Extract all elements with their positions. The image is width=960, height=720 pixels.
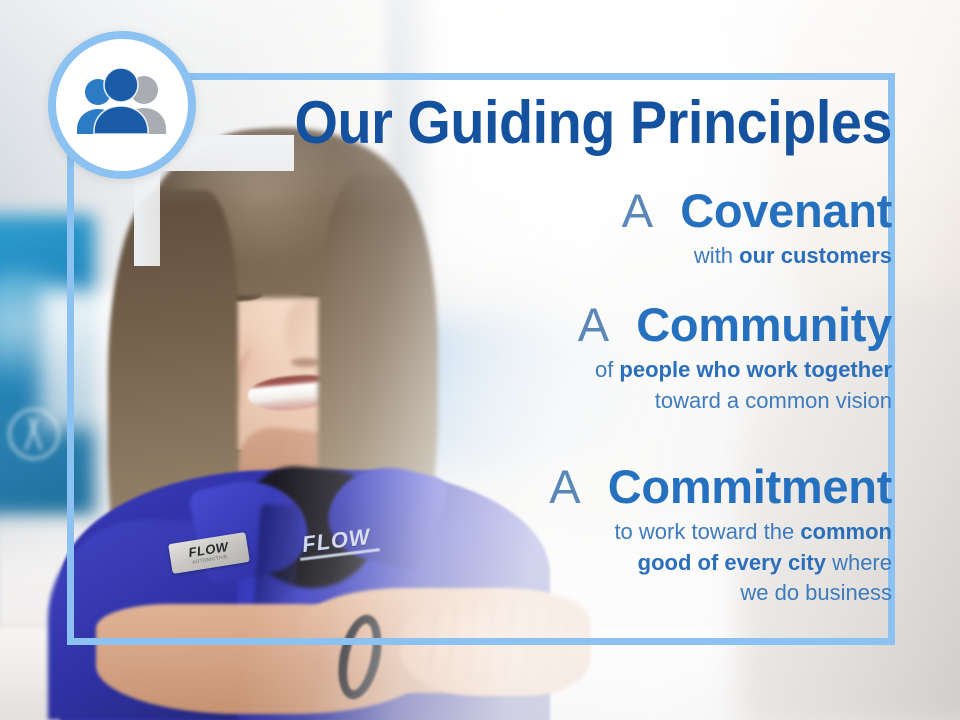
guiding-principles-graphic: FLOW AUTOMOTIVE FLOW bbox=[0, 0, 960, 720]
principle-subtext-line: good of every city where bbox=[549, 548, 892, 578]
plain-text: with bbox=[694, 243, 739, 268]
plain-text: we do business bbox=[740, 580, 892, 605]
emphasis-text: people who work together bbox=[619, 357, 892, 382]
plain-text: of bbox=[595, 357, 619, 382]
principle-article: A bbox=[549, 460, 594, 513]
employee-fingers bbox=[420, 600, 580, 680]
principle-heading: A Commitment bbox=[549, 462, 892, 511]
principle-subtext: of people who work togethertoward a comm… bbox=[578, 355, 892, 416]
principle-subtext: to work toward the commongood of every c… bbox=[549, 517, 892, 608]
employee-nostril bbox=[291, 358, 321, 367]
principle-word: Commitment bbox=[608, 460, 892, 513]
principle-heading: A Covenant bbox=[622, 186, 892, 235]
principle-covenant: A Covenant with our customers bbox=[622, 186, 892, 272]
emphasis-text: good of every city bbox=[638, 550, 826, 575]
principle-article: A bbox=[622, 184, 667, 237]
principle-subtext-line: to work toward the common bbox=[549, 517, 892, 547]
principle-word: Covenant bbox=[680, 184, 892, 237]
plain-text: to work toward the bbox=[614, 519, 800, 544]
principle-subtext-line: we do business bbox=[549, 578, 892, 608]
principle-subtext-line: toward a common vision bbox=[578, 386, 892, 416]
plain-text: where bbox=[826, 550, 892, 575]
principle-subtext-line: of people who work together bbox=[578, 355, 892, 385]
principle-article: A bbox=[578, 298, 623, 351]
plain-text: toward a common vision bbox=[655, 388, 892, 413]
page-title: Our Guiding Principles bbox=[62, 93, 892, 153]
principle-commitment: A Commitment to work toward the commongo… bbox=[549, 462, 892, 608]
principle-community: A Community of people who work togethert… bbox=[578, 300, 892, 416]
emphasis-text: common bbox=[800, 519, 892, 544]
principle-subtext-line: with our customers bbox=[622, 241, 892, 271]
principle-heading: A Community bbox=[578, 300, 892, 349]
principle-word: Community bbox=[636, 298, 892, 351]
emphasis-text: our customers bbox=[739, 243, 892, 268]
principle-subtext: with our customers bbox=[622, 241, 892, 271]
